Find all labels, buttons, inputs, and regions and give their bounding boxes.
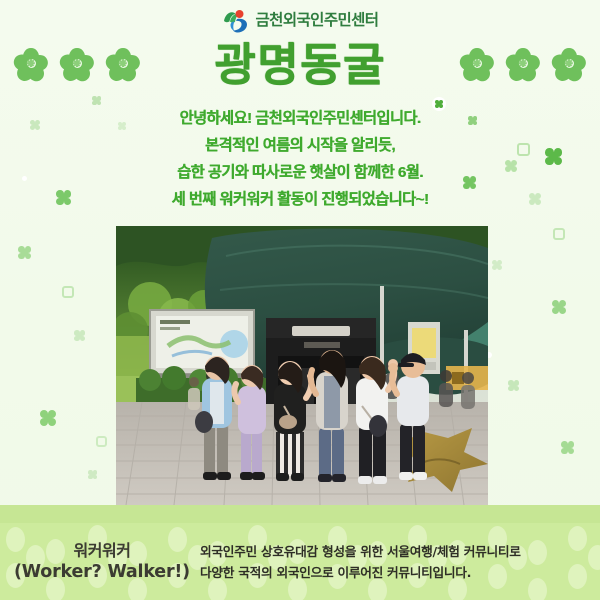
intro-paragraph: 안녕하세요! 금천외국인주민센터입니다. 본격적인 여름의 시작을 알리듯, 습… (0, 108, 600, 216)
intro-line: 안녕하세요! 금천외국인주민센터입니다. (0, 108, 600, 129)
community-brand-en: (Worker? Walker!) (4, 561, 200, 583)
group-photo-illustration (116, 226, 488, 505)
clover-icon (435, 100, 443, 108)
clover-icon (74, 330, 85, 341)
clover-outline-icon (553, 228, 565, 240)
header-logo-row: 금천외국인주민센터 (0, 8, 600, 34)
clover-outline-icon (96, 436, 107, 447)
intro-line: 본격적인 여름의 시작을 알리듯, (0, 135, 600, 156)
promo-card: 금천외국인주민센터 광명동굴 안녕하세 (0, 0, 600, 600)
clover-icon (88, 470, 97, 479)
footer: 워커워커 (Worker? Walker!) 외국인주민 상호유대감 형성을 위… (0, 523, 600, 600)
intro-line: 습한 공기와 따사로운 햇살이 함께한 6월. (0, 162, 600, 183)
community-brand: 워커워커 (Worker? Walker!) (0, 541, 200, 583)
clover-icon (561, 441, 574, 454)
intro-line: 세 번째 워커워커 활동이 진행되었습니다~! (0, 189, 600, 210)
community-brand-ko: 워커워커 (4, 541, 200, 561)
organization-name: 금천외국인주민센터 (256, 13, 379, 29)
clover-icon (492, 260, 502, 270)
footer-divider-band (0, 505, 600, 523)
clover-icon (40, 410, 56, 426)
community-description-line: 다양한 국적의 외국인으로 이루어진 커뮤니티입니다. (200, 562, 586, 583)
page-title: 광명동굴 (0, 36, 600, 94)
clover-icon (92, 96, 101, 105)
community-description-line: 외국인주민 상호유대감 형성을 위한 서울여행/체험 커뮤니티로 (200, 541, 586, 562)
community-description: 외국인주민 상호유대감 형성을 위한 서울여행/체험 커뮤니티로 다양한 국적의… (200, 541, 600, 583)
clover-icon (18, 246, 31, 259)
activity-photo (116, 226, 488, 505)
clover-outline-icon (62, 286, 74, 298)
gcfrc-leaf-person-logo-icon (222, 8, 249, 34)
clover-icon (508, 380, 519, 391)
clover-icon (552, 300, 566, 314)
